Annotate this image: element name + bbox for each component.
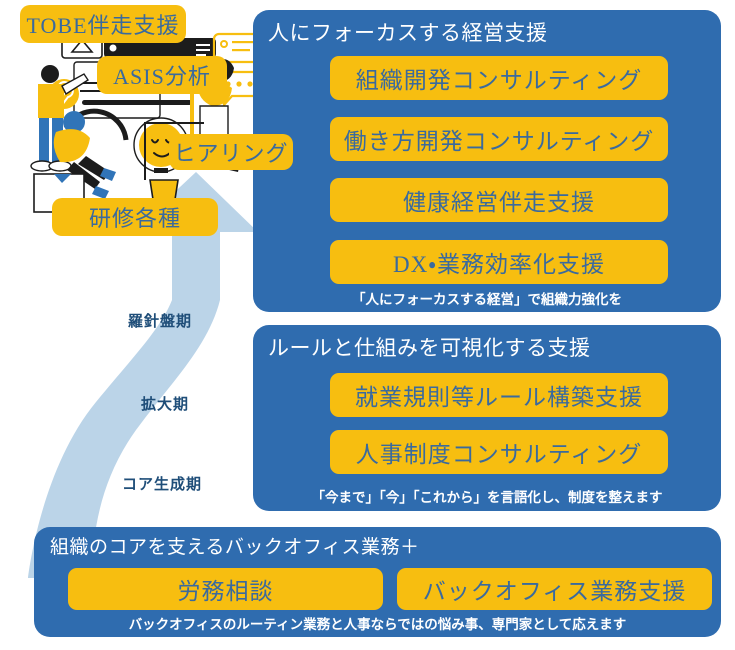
phase-label-core-creation: コア生成期 (122, 473, 202, 494)
panel-rules-visualization-note: 「今まで」「今」「これから」を言語化し、制度を整えます (253, 486, 721, 506)
phase-label-expansion: 拡大期 (141, 393, 189, 414)
infographic-canvas: 人にフォーカスする経営支援 組織開発コンサルティング 働き方開発コンサルティング… (0, 0, 735, 645)
panel-people-focus-title: 人にフォーカスする経営支援 (268, 17, 548, 47)
panel-back-office-note: バックオフィスのルーティン業務と人事ならではの悩み事、専門家として応えます (34, 613, 721, 633)
service-chip-hr-system-consulting[interactable]: 人事制度コンサルティング (330, 430, 668, 474)
service-chip-health-management[interactable]: 健康経営伴走支援 (330, 178, 668, 222)
service-chip-org-development[interactable]: 組織開発コンサルティング (330, 56, 668, 100)
panel-back-office-title: 組織のコアを支えるバックオフィス業務＋ (50, 532, 420, 559)
service-chip-work-rules[interactable]: 就業規則等ルール構築支援 (330, 373, 668, 417)
service-chip-work-style-development[interactable]: 働き方開発コンサルティング (330, 117, 668, 161)
person-torso (54, 129, 90, 162)
tag-pill-training[interactable]: 研修各種 (52, 198, 218, 236)
service-chip-back-office-support[interactable]: バックオフィス業務支援 (397, 568, 712, 610)
panel-people-focus-note: 「人にフォーカスする経営」で組織力強化を (253, 288, 721, 308)
person-torso (38, 84, 64, 118)
person-leg (39, 118, 49, 162)
person-head (41, 65, 59, 83)
service-chip-dx-efficiency[interactable]: DX・業務効率化支援 (330, 240, 668, 284)
panel-rules-visualization-title: ルールと仕組みを可視化する支援 (268, 332, 591, 362)
tag-pill-tobe-support[interactable]: TOBE伴走支援 (20, 5, 186, 43)
tag-pill-hearing[interactable]: ヒアリング (169, 134, 293, 170)
service-chip-labor-consultation[interactable]: 労務相談 (68, 568, 383, 610)
tag-pill-asis-analysis[interactable]: ASIS分析 (97, 56, 227, 94)
phase-label-compass: 羅針盤期 (128, 310, 192, 331)
